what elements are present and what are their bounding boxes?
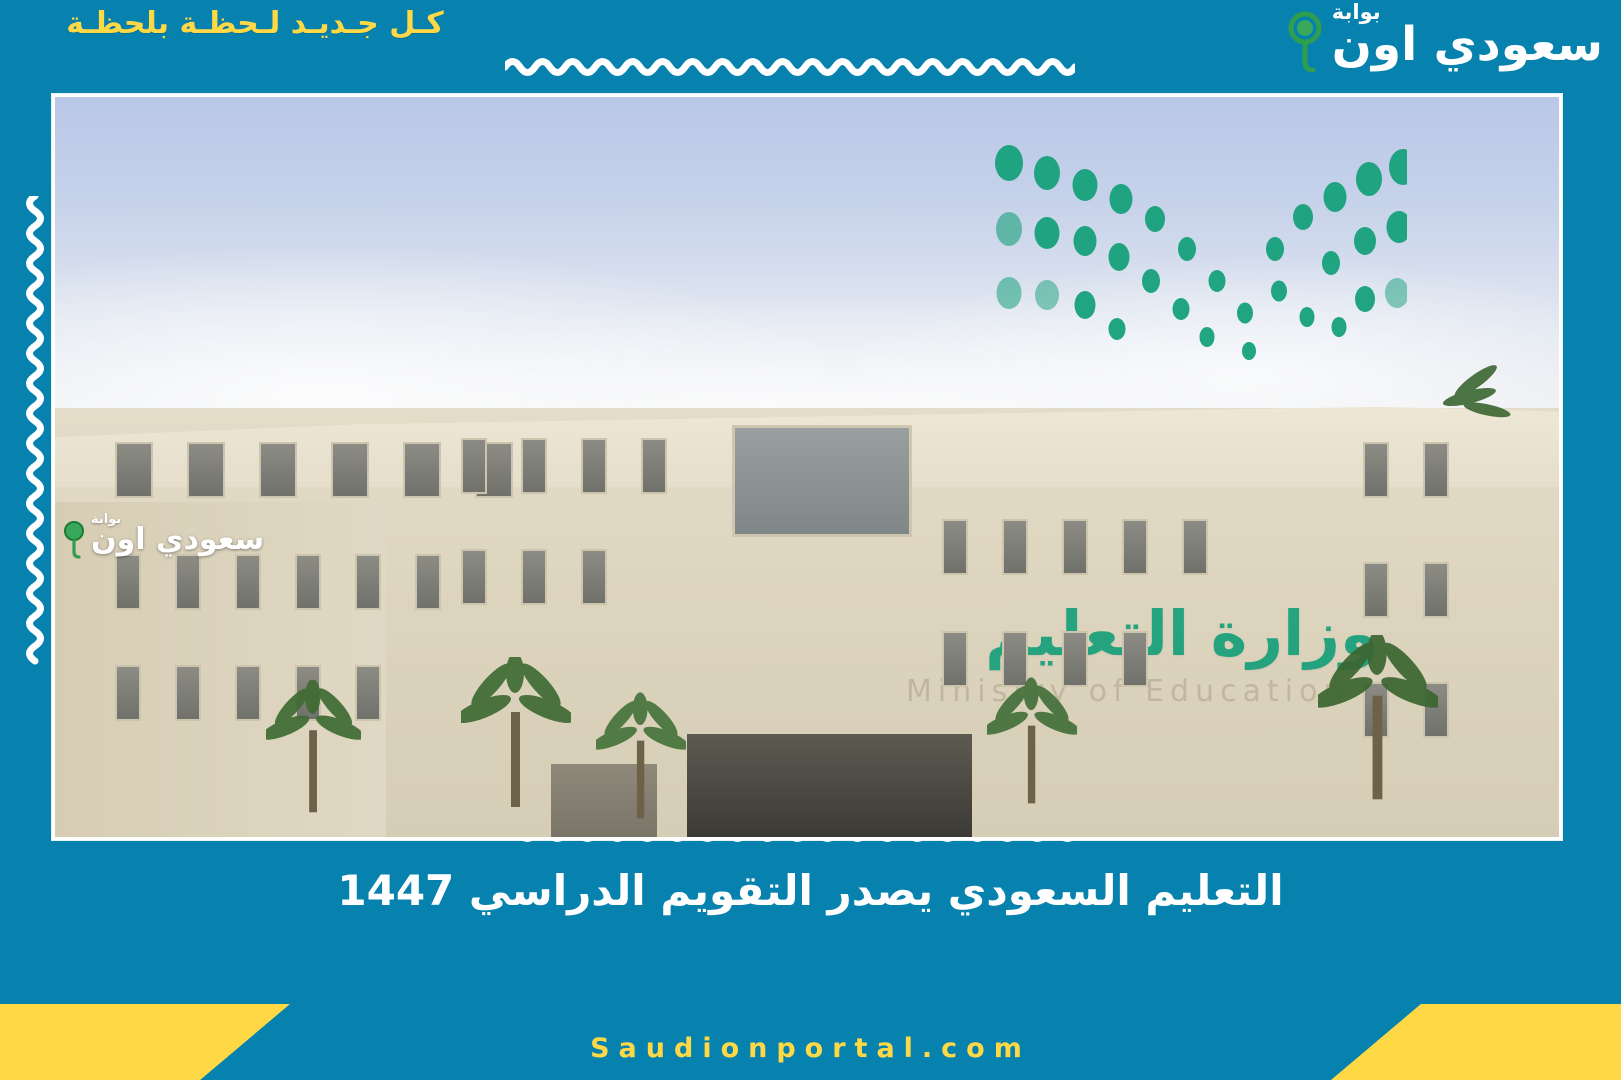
- palm-tree-icon: [461, 657, 571, 807]
- window: [461, 438, 487, 494]
- palm-tree-icon: [266, 680, 361, 815]
- window: [521, 549, 547, 605]
- watermark-text: بوابة سعودي اون: [91, 513, 264, 555]
- window: [1002, 519, 1028, 575]
- window: [942, 631, 968, 687]
- magnifier-icon: [61, 519, 87, 559]
- window: [1122, 631, 1148, 687]
- window-row: [115, 554, 441, 610]
- main-entrance: [687, 734, 973, 837]
- magnifier-icon: [1284, 10, 1326, 72]
- window: [295, 554, 321, 610]
- window: [1423, 562, 1449, 618]
- window: [461, 549, 487, 605]
- facade-glass-panel: [732, 425, 912, 537]
- window-row: [942, 519, 1208, 575]
- palm-tree-icon: [987, 677, 1077, 807]
- window: [115, 665, 141, 721]
- window: [355, 554, 381, 610]
- window: [175, 665, 201, 721]
- headline: التعليم السعودي يصدر التقويم الدراسي 144…: [0, 866, 1621, 915]
- window: [1062, 519, 1088, 575]
- palm-tree-icon: [596, 692, 686, 822]
- window: [581, 438, 607, 494]
- watermark-main-label: سعودي اون: [91, 525, 264, 555]
- window: [1363, 442, 1389, 498]
- wave-top-icon: [505, 52, 1075, 82]
- window-row: [115, 442, 513, 498]
- window-row: [461, 549, 607, 605]
- window: [581, 549, 607, 605]
- window: [331, 442, 369, 498]
- window: [235, 665, 261, 721]
- window-row: [1363, 562, 1449, 618]
- window: [403, 442, 441, 498]
- brand-text: بوابة سعودي اون: [1332, 2, 1603, 68]
- photo-frame: وزارة التعليم Ministry of Education: [52, 94, 1562, 840]
- window: [235, 554, 261, 610]
- poster-canvas: كـل جـديـد لـحظـة بلحظـة بوابة سعودي اون: [0, 0, 1621, 1080]
- window: [115, 442, 153, 498]
- window: [1182, 519, 1208, 575]
- palm-tree-icon: [1318, 635, 1438, 800]
- window-row: [461, 438, 667, 494]
- window: [1122, 519, 1148, 575]
- site-url: Saudionportal.com: [0, 1033, 1621, 1064]
- window: [521, 438, 547, 494]
- photo-watermark: بوابة سعودي اون: [61, 513, 264, 559]
- wave-left-icon: [20, 196, 50, 666]
- window: [175, 554, 201, 610]
- window: [415, 554, 441, 610]
- window: [187, 442, 225, 498]
- window: [641, 438, 667, 494]
- window: [115, 554, 141, 610]
- brand-main-label: سعودي اون: [1332, 21, 1603, 68]
- window: [259, 442, 297, 498]
- ministry-of-education-logo-icon: [987, 141, 1407, 371]
- window-row: [1363, 442, 1449, 498]
- window: [942, 519, 968, 575]
- building-photo: وزارة التعليم Ministry of Education: [55, 97, 1559, 837]
- brand-logo: بوابة سعودي اون: [1284, 2, 1603, 72]
- palm-tree-icon: [1439, 349, 1559, 469]
- tagline: كـل جـديـد لـحظـة بلحظـة: [20, 6, 490, 41]
- window: [1363, 562, 1389, 618]
